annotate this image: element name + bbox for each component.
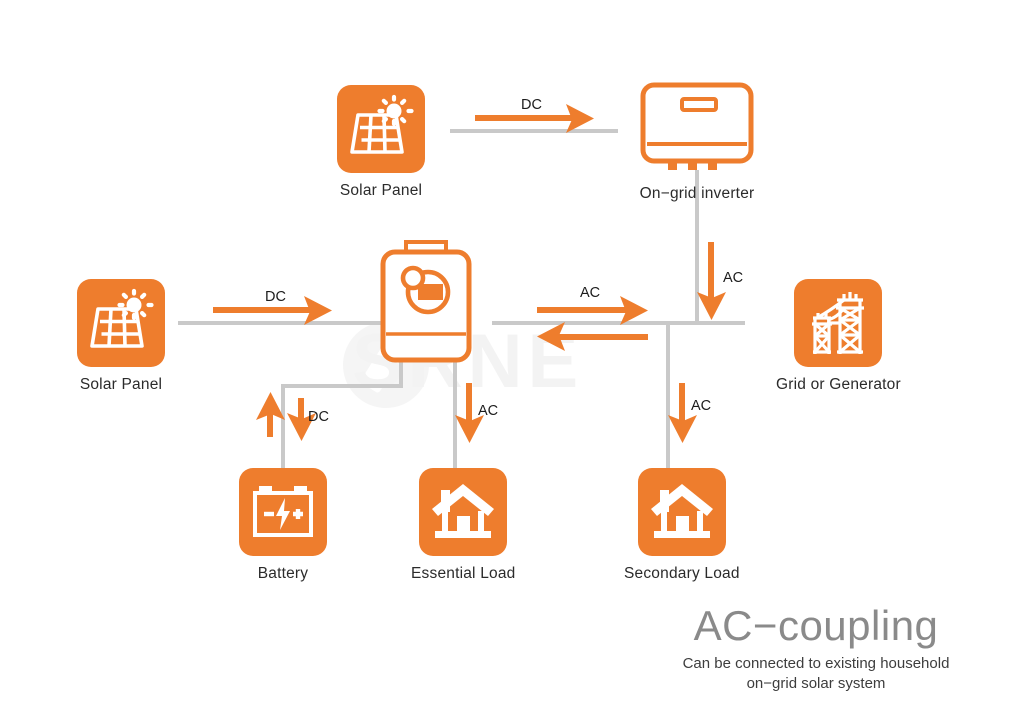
flow-label-pv-to-hybrid: DC bbox=[265, 289, 286, 305]
battery-icon bbox=[239, 468, 327, 556]
house-icon bbox=[419, 468, 507, 556]
flow-label-hybrid-essential: AC bbox=[478, 403, 498, 419]
node-label-on-grid-inverter: On−grid inverter bbox=[640, 185, 755, 203]
node-label-battery: Battery bbox=[258, 565, 309, 583]
node-label-essential-load: Essential Load bbox=[411, 565, 515, 583]
transmission-tower-icon bbox=[794, 279, 882, 367]
node-secondary-load[interactable]: Secondary Load bbox=[624, 468, 740, 583]
node-solar-panel-top[interactable]: Solar Panel bbox=[337, 85, 425, 200]
arrow-grid-to-hybrid bbox=[537, 322, 648, 351]
on-grid-inverter-icon bbox=[639, 82, 755, 172]
solar-panel-icon bbox=[77, 279, 165, 367]
flow-label-bus-secondary: AC bbox=[691, 398, 711, 414]
subtitle-line-2: on−grid solar system bbox=[646, 674, 986, 694]
house-icon bbox=[638, 468, 726, 556]
arrow-battery-to-hybrid bbox=[256, 392, 285, 437]
flow-label-ongrid-to-bus: AC bbox=[723, 270, 743, 286]
node-battery[interactable]: Battery bbox=[239, 468, 327, 583]
arrow-ongrid-to-bus bbox=[697, 242, 726, 320]
diagram-title: AC−coupling bbox=[646, 604, 986, 648]
title-block: AC−coupling Can be connected to existing… bbox=[646, 604, 986, 693]
hybrid-inverter-icon bbox=[379, 240, 477, 364]
node-essential-load[interactable]: Essential Load bbox=[411, 468, 515, 583]
node-hybrid-inverter[interactable] bbox=[379, 240, 477, 364]
diagram-subtitle: Can be connected to existing household o… bbox=[646, 654, 986, 693]
subtitle-line-1: Can be connected to existing household bbox=[646, 654, 986, 674]
node-label-solar-panel-left: Solar Panel bbox=[80, 376, 162, 394]
flow-label-hybrid-battery: DC bbox=[308, 409, 329, 425]
node-label-solar-panel-top: Solar Panel bbox=[340, 182, 422, 200]
node-solar-panel-left[interactable]: Solar Panel bbox=[77, 279, 165, 394]
node-grid-generator[interactable]: Grid or Generator bbox=[776, 279, 901, 394]
flow-label-hybrid-grid: AC bbox=[580, 285, 600, 301]
node-label-grid-generator: Grid or Generator bbox=[776, 376, 901, 394]
node-label-secondary-load: Secondary Load bbox=[624, 565, 740, 583]
node-on-grid-inverter[interactable]: On−grid inverter bbox=[639, 82, 755, 203]
flow-label-pv-to-ongrid: DC bbox=[521, 97, 542, 113]
ac-coupling-diagram: SRNE bbox=[0, 0, 1024, 724]
solar-panel-icon bbox=[337, 85, 425, 173]
